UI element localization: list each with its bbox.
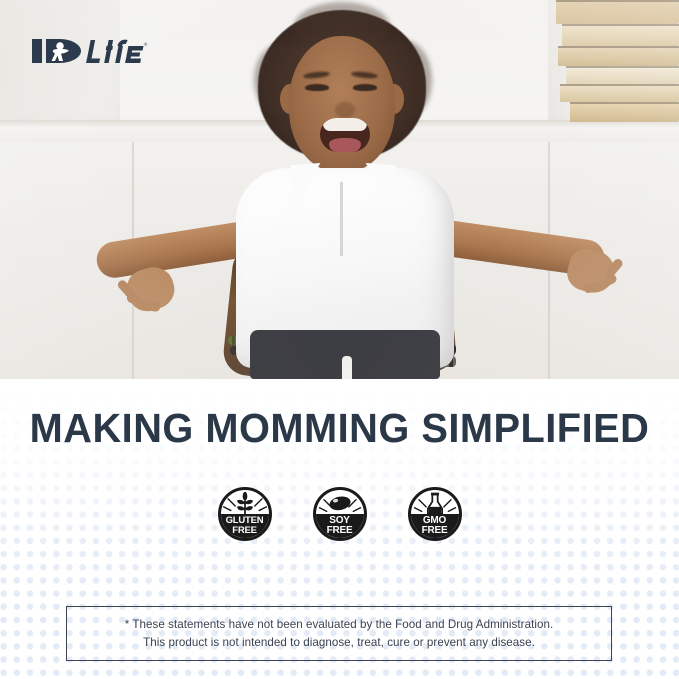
- badge-label-line2: FREE: [422, 526, 448, 536]
- certification-badges: GLUTEN FREE: [0, 487, 679, 541]
- flask-icon: [411, 490, 459, 514]
- book: [558, 46, 679, 66]
- badge-label: SOY FREE: [316, 514, 364, 538]
- idlife-logo: ®: [30, 33, 150, 69]
- badge-label: GMO FREE: [411, 514, 459, 538]
- badge-soy-free: SOY FREE: [313, 487, 367, 541]
- product-listing-image: ® MAKING MOMMING SIMPLIFIED: [0, 0, 679, 679]
- child-shorts: [250, 330, 440, 379]
- book-stack: [556, 0, 679, 125]
- page-title: MAKING MOMMING SIMPLIFIED: [10, 405, 669, 452]
- soybean-icon: [316, 490, 364, 514]
- wheat-icon: [221, 490, 269, 514]
- badge-label-line2: FREE: [327, 526, 353, 536]
- book: [562, 24, 679, 46]
- book: [570, 102, 679, 122]
- book: [556, 0, 679, 24]
- trademark-symbol: ®: [144, 41, 148, 47]
- child-face: [289, 36, 395, 172]
- hero-photo: ®: [0, 0, 679, 379]
- child-smile: [320, 118, 370, 152]
- badge-label: GLUTEN FREE: [221, 514, 269, 538]
- lower-content-section: MAKING MOMMING SIMPLIFIED: [0, 379, 679, 679]
- badge-gluten-free: GLUTEN FREE: [218, 487, 272, 541]
- disclaimer-line-1: * These statements have not been evaluat…: [125, 618, 553, 631]
- badge-gmo-free: GMO FREE: [408, 487, 462, 541]
- disclaimer-line-2: This product is not intended to diagnose…: [143, 636, 535, 649]
- badge-label-line2: FREE: [232, 526, 257, 536]
- book: [560, 84, 679, 102]
- fda-disclaimer-box: * These statements have not been evaluat…: [66, 606, 612, 661]
- book: [566, 66, 679, 84]
